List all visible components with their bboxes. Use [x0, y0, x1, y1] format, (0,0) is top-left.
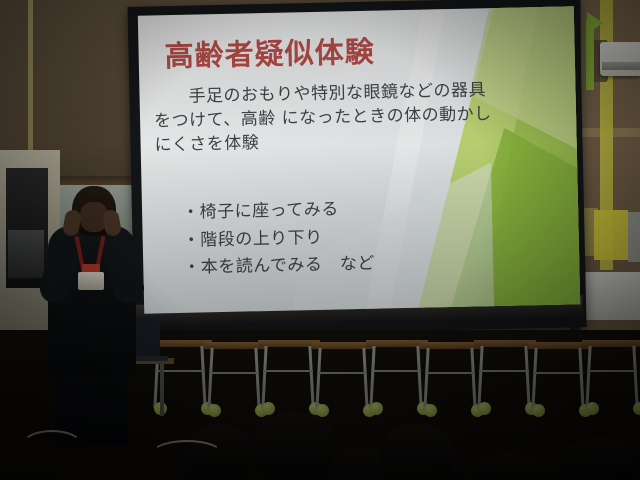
desk-leg: [477, 346, 483, 408]
classroom-presentation-photo: 高齢者疑似体験 手足のおもりや特別な眼鏡などの器具 をつけて、高齢 になったとき…: [0, 0, 640, 480]
floor-cable: [20, 430, 84, 464]
stacked-desk: [528, 342, 590, 412]
desk-crossbar: [479, 370, 529, 372]
tennis-ball-on-desk-leg: [633, 402, 640, 415]
desk-leg: [261, 346, 267, 408]
floor-cable: [150, 440, 224, 470]
stacked-desk: [582, 340, 640, 410]
name-badge: [78, 272, 104, 290]
audience-member-head: [560, 438, 640, 480]
stacked-desk: [366, 340, 428, 410]
desk-crossbar: [533, 372, 583, 374]
slide-bullet-list: ・椅子に座ってみる ・階段の上り下り ・本を読んでみる など: [182, 192, 544, 283]
stacked-desk: [420, 342, 482, 412]
tennis-ball-on-desk-leg: [424, 404, 437, 417]
tennis-ball-on-desk-leg: [316, 404, 329, 417]
slide-body: 手足のおもりや特別な眼鏡などの器具 をつけて、高齢 になったときの体の動かし に…: [153, 77, 554, 158]
desk-crossbar: [587, 370, 637, 372]
laptop-table-leg: [160, 362, 164, 416]
wall-trim-strip: [28, 0, 33, 150]
desk-crossbar: [425, 372, 475, 374]
tennis-ball-on-desk-leg: [532, 404, 545, 417]
desk-leg: [369, 346, 375, 408]
presentation-slide: 高齢者疑似体験 手足のおもりや特別な眼鏡などの器具 をつけて、高齢 になったとき…: [138, 6, 580, 313]
audience-member-head: [380, 424, 454, 480]
stacked-desk: [474, 340, 536, 410]
tennis-ball-on-desk-leg: [262, 402, 275, 415]
presenter: [34, 186, 146, 446]
whiteboard: [584, 272, 640, 320]
yellow-poster: [594, 210, 628, 260]
desk-leg: [315, 348, 321, 410]
tennis-ball-on-desk-leg: [586, 402, 599, 415]
slide-title: 高齢者疑似体験: [164, 29, 375, 76]
stacked-desk: [312, 342, 374, 412]
tennis-ball-on-desk-leg: [478, 402, 491, 415]
desk-leg: [531, 348, 537, 410]
stacked-desk: [258, 340, 320, 410]
tennis-ball-on-desk-leg: [208, 404, 221, 417]
air-conditioner-vent: [602, 62, 640, 70]
air-conditioner: [600, 42, 640, 76]
audience-member-head: [476, 454, 548, 480]
audience-member-head: [252, 412, 336, 480]
desk-crossbar: [263, 370, 313, 372]
slide-content: 高齢者疑似体験 手足のおもりや特別な眼鏡などの器具 をつけて、高齢 になったとき…: [138, 6, 580, 313]
tennis-ball-on-desk-leg: [370, 402, 383, 415]
desk-leg: [585, 346, 591, 408]
desk-crossbar: [209, 372, 259, 374]
desk-leg: [207, 348, 213, 410]
desk-leg: [423, 348, 429, 410]
desk-crossbar: [317, 372, 367, 374]
green-exit-arrow-icon: [587, 12, 603, 34]
stacked-desk: [204, 342, 266, 412]
desk-leg: [632, 346, 638, 408]
pale-poster: [628, 212, 640, 262]
desk-crossbar: [371, 370, 421, 372]
